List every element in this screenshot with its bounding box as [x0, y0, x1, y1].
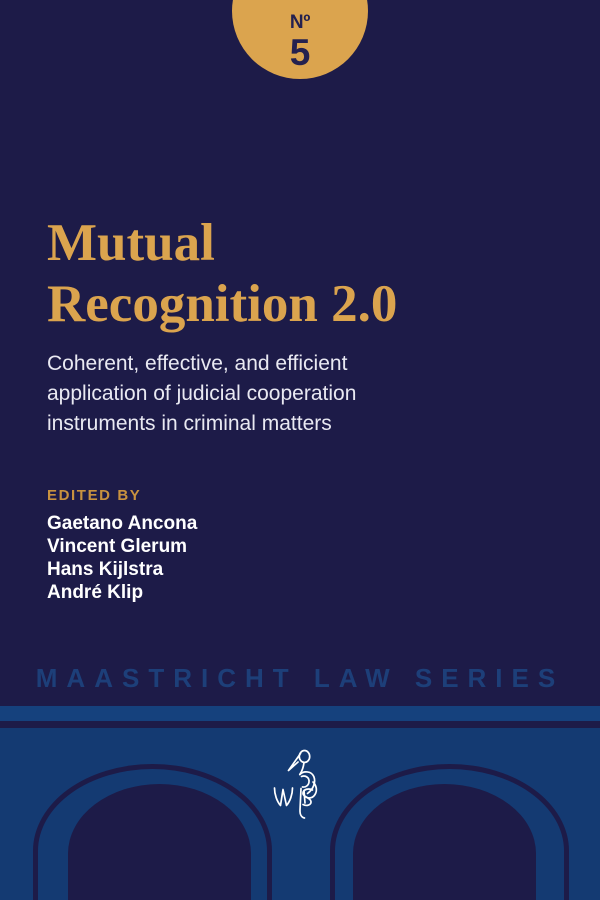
edited-by-label: EDITED BY — [47, 487, 197, 504]
book-title: Mutual Recognition 2.0 — [47, 213, 547, 335]
editor-name: Hans Kijlstra — [47, 558, 197, 581]
book-subtitle: Coherent, effective, and efficient appli… — [47, 349, 447, 439]
editors-block: EDITED BY Gaetano Ancona Vincent Glerum … — [47, 487, 197, 604]
publisher-logo-icon — [268, 748, 334, 828]
issue-number-value: 5 — [232, 34, 368, 71]
accent-band-dark — [0, 721, 600, 728]
book-subtitle-line-2: application of judicial cooperation — [47, 379, 447, 409]
editor-name: André Klip — [47, 581, 197, 604]
book-title-line-2: Recognition 2.0 — [47, 274, 547, 335]
book-title-line-1: Mutual — [47, 213, 547, 274]
editor-name: Gaetano Ancona — [47, 512, 197, 535]
issue-number-label: Nº — [232, 13, 368, 32]
issue-number-badge: Nº 5 — [232, 0, 368, 79]
book-subtitle-line-3: instruments in criminal matters — [47, 409, 447, 439]
book-subtitle-line-1: Coherent, effective, and efficient — [47, 349, 447, 379]
editor-name: Vincent Glerum — [47, 535, 197, 558]
accent-band-blue — [0, 706, 600, 721]
series-name: MAASTRICHT LAW SERIES — [0, 663, 600, 694]
book-cover: Nº 5 Mutual Recognition 2.0 Coherent, ef… — [0, 0, 600, 900]
issue-number-badge-inner: Nº 5 — [232, 13, 368, 71]
